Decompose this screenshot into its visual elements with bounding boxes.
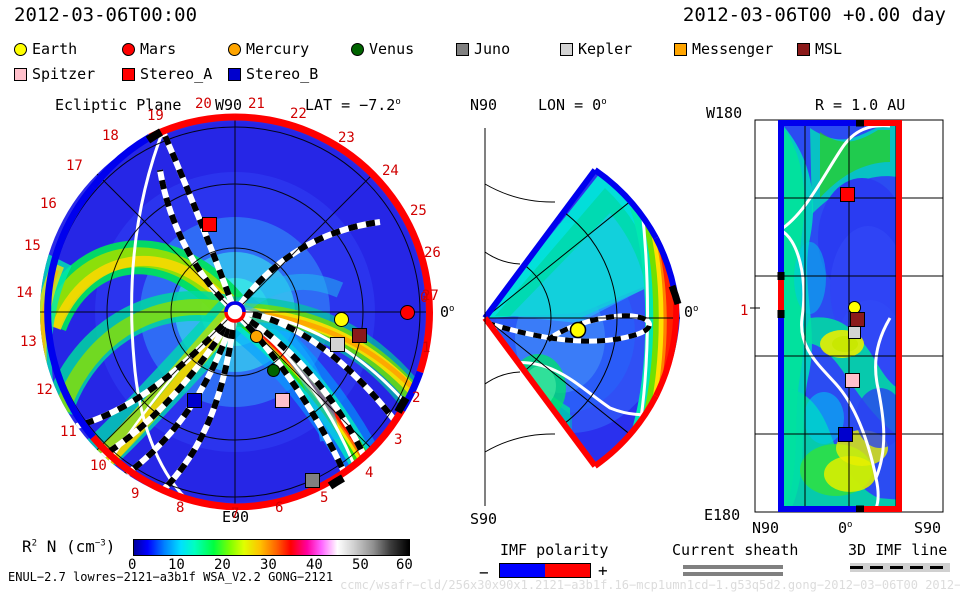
legend-label: Mercury — [246, 40, 309, 58]
marker-stereo-b[interactable] — [187, 393, 202, 408]
map-top-left-label: W180 — [706, 104, 742, 122]
marker-spitzer[interactable] — [845, 373, 860, 388]
marker-msl[interactable] — [850, 312, 865, 327]
map-xtick-n90: N90 — [752, 519, 779, 537]
carrington-tick: 20 — [195, 96, 212, 112]
map-xtick-s90: S90 — [914, 519, 941, 537]
legend-item-spitzer: Spitzer — [14, 65, 95, 83]
carrington-tick: 2 — [412, 390, 420, 406]
watermark-footer: ccmc/wsafr−cld/256x30x90x1.2121−a3b1f.16… — [340, 578, 960, 592]
mars-icon — [122, 43, 135, 56]
marker-msl[interactable] — [352, 328, 367, 343]
colorbar-tick: 50 — [352, 557, 369, 573]
carrington-tick: 24 — [382, 163, 399, 179]
map-xtick-0: 0o — [838, 519, 852, 537]
marker-kepler[interactable] — [330, 337, 345, 352]
carrington-tick: 4 — [365, 465, 373, 481]
carrington-tick: 3 — [394, 432, 402, 448]
marker-mars[interactable] — [400, 305, 415, 320]
imf-polarity-bar — [499, 563, 591, 578]
marker-spitzer[interactable] — [275, 393, 290, 408]
carrington-tick: 14 — [16, 285, 33, 301]
carrington-tick: 9 — [131, 486, 139, 502]
carrington-tick: 23 — [338, 130, 355, 146]
colorbar-tick: 60 — [396, 557, 413, 573]
carrington-tick: 5 — [320, 490, 328, 506]
stereo-b-icon — [228, 68, 241, 81]
imf-positive-swatch — [545, 564, 590, 577]
map-panel-title: R = 1.0 AU — [815, 96, 905, 114]
carrington-tick: 16 — [40, 196, 57, 212]
legend-label: Stereo_A — [140, 65, 212, 83]
marker-mercury[interactable] — [250, 330, 263, 343]
map-bottom-left-label: E180 — [704, 506, 740, 524]
legend-item-messenger: Messenger — [674, 40, 773, 58]
current-sheath-line — [683, 572, 783, 576]
carrington-tick: 8 — [176, 500, 184, 516]
legend-label: Earth — [32, 40, 77, 58]
venus-icon — [351, 43, 364, 56]
carrington-tick: 18 — [102, 128, 119, 144]
marker-kepler[interactable] — [848, 326, 861, 339]
juno-icon — [456, 43, 469, 56]
legend-label: Juno — [474, 40, 510, 58]
carrington-tick: 21 — [248, 96, 265, 112]
datetime-left: 2012-03-06T00:00 — [14, 4, 197, 26]
carrington-tick: 25 — [410, 203, 427, 219]
carrington-tick: 7 — [231, 506, 239, 522]
carrington-tick: 26 — [424, 245, 441, 261]
legend-item-msl: MSL — [797, 40, 842, 58]
map-row-label: 1 — [740, 303, 748, 319]
legend-label: Stereo_B — [246, 65, 318, 83]
carrington-tick: 1 — [422, 340, 430, 356]
carrington-tick: 12 — [36, 382, 53, 398]
colorbar-gradient[interactable] — [133, 539, 410, 556]
mercury-icon — [228, 43, 241, 56]
kepler-icon — [560, 43, 573, 56]
imf-negative-swatch — [500, 564, 545, 577]
meridional-bottom-label: S90 — [470, 510, 497, 528]
colorbar-label: R2 N (cm−3) — [22, 537, 115, 556]
legend-label: Spitzer — [32, 65, 95, 83]
legend-label: Kepler — [578, 40, 632, 58]
current-sheath-title: Current sheath — [672, 541, 798, 559]
marker-venus[interactable] — [267, 364, 280, 377]
marker-earth[interactable] — [334, 312, 349, 327]
legend-item-juno: Juno — [456, 40, 510, 58]
messenger-icon — [674, 43, 687, 56]
marker-stereo-a[interactable] — [202, 217, 217, 232]
legend-label: Venus — [369, 40, 414, 58]
legend-item-kepler: Kepler — [560, 40, 632, 58]
marker-juno[interactable] — [305, 473, 320, 488]
datetime-right: 2012-03-06T00 +0.00 day — [683, 4, 946, 26]
legend-item-venus: Venus — [351, 40, 414, 58]
carrington-tick: 27 — [422, 288, 439, 304]
marker-stereo-b[interactable] — [838, 427, 853, 442]
stereo-a-icon — [122, 68, 135, 81]
legend-item-stereo-a: Stereo_A — [122, 65, 212, 83]
carrington-tick: 15 — [24, 238, 41, 254]
current-sheath-line — [683, 565, 783, 569]
carrington-tick: 13 — [20, 334, 37, 350]
legend-item-mercury: Mercury — [228, 40, 309, 58]
legend-item-earth: Earth — [14, 40, 77, 58]
legend-item-mars: Mars — [122, 40, 176, 58]
marker-stereo-a[interactable] — [840, 187, 855, 202]
carrington-tick: 17 — [66, 158, 83, 174]
carrington-tick: 22 — [290, 106, 307, 122]
legend-item-stereo-b: Stereo_B — [228, 65, 318, 83]
carrington-tick: 19 — [147, 108, 164, 124]
msl-icon — [797, 43, 810, 56]
imf-line-title: 3D IMF line — [848, 541, 947, 559]
carrington-tick: 10 — [90, 458, 107, 474]
legend-label: Messenger — [692, 40, 773, 58]
legend-label: MSL — [815, 40, 842, 58]
imf-line-sample — [850, 563, 950, 572]
run-id-footer: ENUL−2.7 lowres−2121−a3b1f WSA_V2.2 GONG… — [8, 570, 333, 584]
carrington-tick: 11 — [60, 424, 77, 440]
carrington-tick: 6 — [275, 500, 283, 516]
meridional-top-label: N90 — [470, 96, 497, 114]
meridional-panel-title: LON = 0o — [538, 96, 607, 114]
spitzer-icon — [14, 68, 27, 81]
earth-icon — [14, 43, 27, 56]
legend-label: Mars — [140, 40, 176, 58]
imf-polarity-title: IMF polarity — [500, 541, 608, 559]
meridional-plot[interactable] — [460, 118, 690, 506]
